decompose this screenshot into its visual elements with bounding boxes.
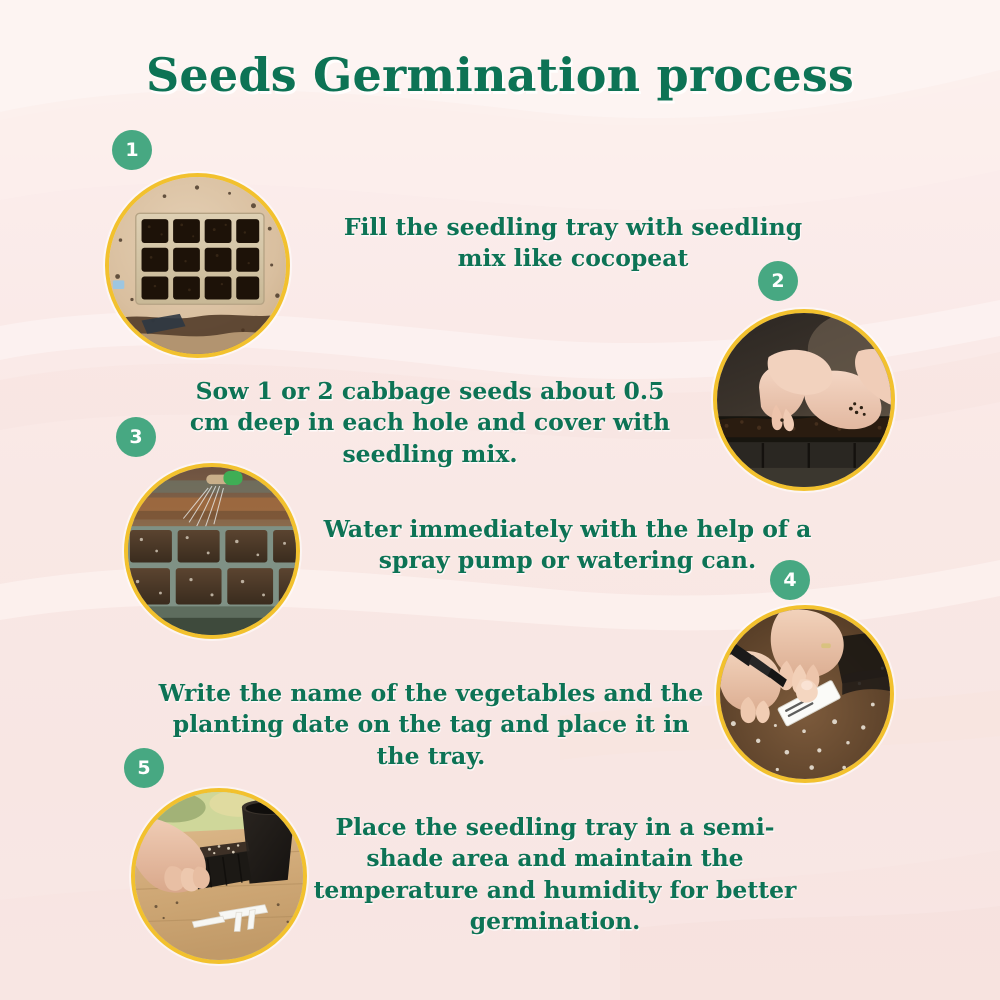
step-badge-4: 4 [770, 560, 810, 600]
step-badge-3: 3 [116, 417, 156, 457]
hands-sowing-cabbage-seeds-photo [717, 313, 891, 487]
step-image-4 [716, 605, 894, 783]
placing-tray-on-bench-photo [135, 792, 303, 960]
step-badge-1: 1 [112, 130, 152, 170]
step-badge-5-number: 5 [137, 759, 150, 778]
step-text-1: Fill the seedling tray with seedling mix… [318, 212, 828, 275]
step-badge-1-number: 1 [125, 141, 138, 160]
step-text-2: Sow 1 or 2 cabbage seeds about 0.5 cm de… [180, 376, 680, 470]
step-text-5: Place the seedling tray in a semi-shade … [310, 812, 800, 937]
step-badge-4-number: 4 [783, 571, 796, 590]
writing-plant-tag-photo [720, 609, 890, 779]
page-title: Seeds Germination process [0, 48, 1000, 102]
step-text-3: Water immediately with the help of a spr… [300, 514, 835, 577]
seedling-tray-filled-with-cocopeat-photo [109, 177, 286, 354]
step-badge-2-number: 2 [771, 272, 784, 291]
step-image-1 [105, 173, 290, 358]
step-text-4: Write the name of the vegetables and the… [148, 678, 714, 772]
step-badge-5: 5 [124, 748, 164, 788]
step-image-5 [131, 788, 307, 964]
watering-seedling-tray-with-spray-photo [128, 467, 296, 635]
step-badge-3-number: 3 [129, 428, 142, 447]
step-image-2 [713, 309, 895, 491]
step-badge-2: 2 [758, 261, 798, 301]
step-image-3 [124, 463, 300, 639]
